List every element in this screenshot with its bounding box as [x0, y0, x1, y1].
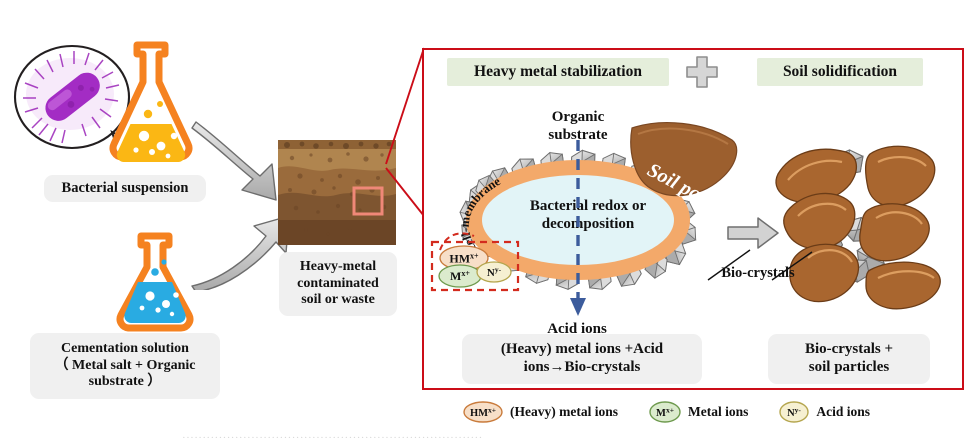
header-soil-solidification: Soil solidification	[757, 58, 923, 86]
soil-particle-shape	[866, 262, 940, 309]
cementation-flask	[120, 236, 190, 328]
header-heavy-metal-stabilization: Heavy metal stabilization	[447, 58, 669, 86]
plus-icon	[685, 55, 719, 89]
cementation-label-line3: substrate ）	[89, 374, 162, 391]
n-ion-icon: Ny-	[778, 400, 810, 424]
footer-right-line2: soil particles	[809, 359, 889, 377]
soil-particle-illustration: Soil particle	[628, 118, 748, 218]
cementation-label-line1: Cementation solution	[61, 341, 189, 358]
soil-block-label: Heavy-metal contaminated soil or waste	[279, 252, 397, 316]
legend-item-acid: Ny- Acid ions	[778, 400, 870, 424]
soil-label-line2: contaminated	[297, 276, 379, 293]
ion-cluster-box: HMx+ Mx+ Ny-	[430, 228, 526, 296]
m-ion-icon: Mx+	[648, 400, 682, 424]
bacterial-suspension-label: Bacterial suspension	[44, 175, 206, 202]
arrow-bacterial-to-soil	[192, 122, 276, 200]
organic-substrate-label: Organic substrate	[523, 108, 633, 144]
legend-label-acid: Acid ions	[816, 404, 870, 420]
organic-substrate-line1: Organic	[523, 108, 633, 126]
arrow-cementation-to-soil	[192, 216, 289, 290]
bio-crystals-label: Bio-crystals	[700, 265, 816, 282]
substrate-to-acid-arrow	[566, 140, 590, 318]
figure-canvas: Bacterial suspension Cementation solutio…	[0, 0, 968, 443]
soil-label-line3: soil or waste	[301, 292, 375, 309]
cropped-caption: ········································…	[182, 432, 802, 443]
footer-right-line1: Bio-crystals +	[805, 341, 893, 359]
soil-label-line1: Heavy-metal	[300, 259, 376, 276]
footer-reaction-equation: (Heavy) metal ions +Acid ions→Bio-crysta…	[462, 334, 702, 384]
legend: HMx+ (Heavy) metal ions Mx+ Metal ions N…	[462, 398, 962, 426]
footer-bio-crystals-soil: Bio-crystals + soil particles	[768, 334, 930, 384]
cementation-solution-label: Cementation solution （ Metal salt + Orga…	[30, 333, 220, 399]
legend-item-heavy-metal: HMx+ (Heavy) metal ions	[462, 400, 618, 424]
legend-label-metal: Metal ions	[688, 404, 748, 420]
cementation-label-line2: （ Metal salt + Organic	[55, 358, 196, 375]
footer-left-line1: (Heavy) metal ions +Acid	[501, 341, 663, 359]
legend-label-heavy-metal: (Heavy) metal ions	[510, 404, 618, 420]
legend-item-metal: Mx+ Metal ions	[648, 400, 748, 424]
footer-left-line2: ions→Bio-crystals	[524, 359, 641, 377]
hm-ion-icon: HMx+	[462, 400, 504, 424]
soil-particle-shape	[866, 146, 935, 206]
